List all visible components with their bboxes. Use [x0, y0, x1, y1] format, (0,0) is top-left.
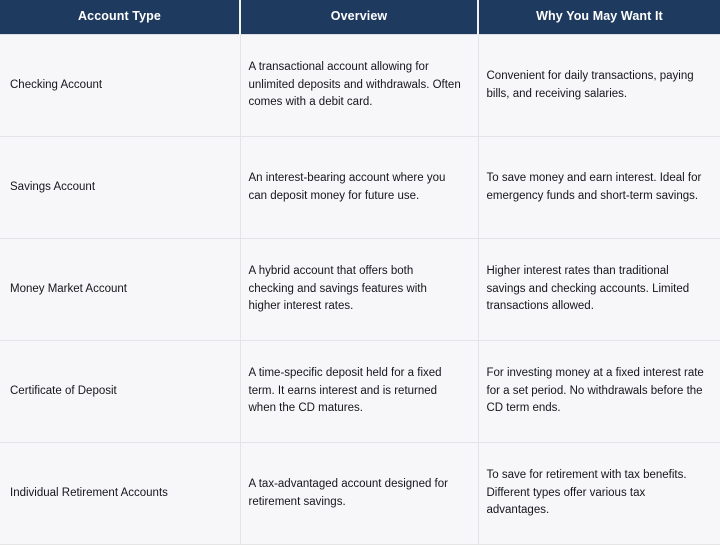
account-types-table: Account Type Overview Why You May Want I…	[0, 0, 720, 545]
cell-overview: A transactional account allowing for unl…	[240, 35, 478, 137]
cell-why: Higher interest rates than traditional s…	[478, 239, 720, 341]
table-row: Checking Account A transactional account…	[0, 35, 720, 137]
cell-overview-text: A hybrid account that offers both checki…	[249, 263, 462, 316]
cell-account-type-text: Savings Account	[10, 179, 230, 197]
cell-why: Convenient for daily transactions, payin…	[478, 35, 720, 137]
cell-account-type: Individual Retirement Accounts	[0, 443, 240, 545]
cell-account-type-text: Money Market Account	[10, 281, 230, 299]
cell-why: For investing money at a fixed interest …	[478, 341, 720, 443]
column-header-overview: Overview	[240, 0, 478, 35]
table-row: Money Market Account A hybrid account th…	[0, 239, 720, 341]
account-types-table-container: Account Type Overview Why You May Want I…	[0, 0, 720, 547]
cell-account-type-text: Certificate of Deposit	[10, 383, 230, 401]
cell-overview: A hybrid account that offers both checki…	[240, 239, 478, 341]
cell-account-type: Certificate of Deposit	[0, 341, 240, 443]
cell-why: To save for retirement with tax benefits…	[478, 443, 720, 545]
column-header-account-type: Account Type	[0, 0, 240, 35]
cell-why-text: To save for retirement with tax benefits…	[487, 467, 707, 520]
cell-why: To save money and earn interest. Ideal f…	[478, 137, 720, 239]
cell-overview-text: A time-specific deposit held for a fixed…	[249, 365, 462, 418]
cell-overview: A time-specific deposit held for a fixed…	[240, 341, 478, 443]
cell-overview-text: A tax-advantaged account designed for re…	[249, 476, 462, 512]
cell-why-text: To save money and earn interest. Ideal f…	[487, 170, 707, 206]
cell-account-type: Savings Account	[0, 137, 240, 239]
cell-account-type: Checking Account	[0, 35, 240, 137]
table-row: Individual Retirement Accounts A tax-adv…	[0, 443, 720, 545]
table-row: Certificate of Deposit A time-specific d…	[0, 341, 720, 443]
cell-why-text: Convenient for daily transactions, payin…	[487, 68, 707, 104]
table-row: Savings Account An interest-bearing acco…	[0, 137, 720, 239]
column-header-why-you-may-want-it: Why You May Want It	[478, 0, 720, 35]
cell-overview: A tax-advantaged account designed for re…	[240, 443, 478, 545]
cell-why-text: Higher interest rates than traditional s…	[487, 263, 707, 316]
cell-account-type-text: Checking Account	[10, 77, 230, 95]
table-header: Account Type Overview Why You May Want I…	[0, 0, 720, 35]
cell-why-text: For investing money at a fixed interest …	[487, 365, 707, 418]
table-body: Checking Account A transactional account…	[0, 35, 720, 545]
cell-overview: An interest-bearing account where you ca…	[240, 137, 478, 239]
cell-overview-text: A transactional account allowing for unl…	[249, 59, 462, 112]
cell-overview-text: An interest-bearing account where you ca…	[249, 170, 462, 206]
table-header-row: Account Type Overview Why You May Want I…	[0, 0, 720, 35]
cell-account-type: Money Market Account	[0, 239, 240, 341]
cell-account-type-text: Individual Retirement Accounts	[10, 485, 230, 503]
